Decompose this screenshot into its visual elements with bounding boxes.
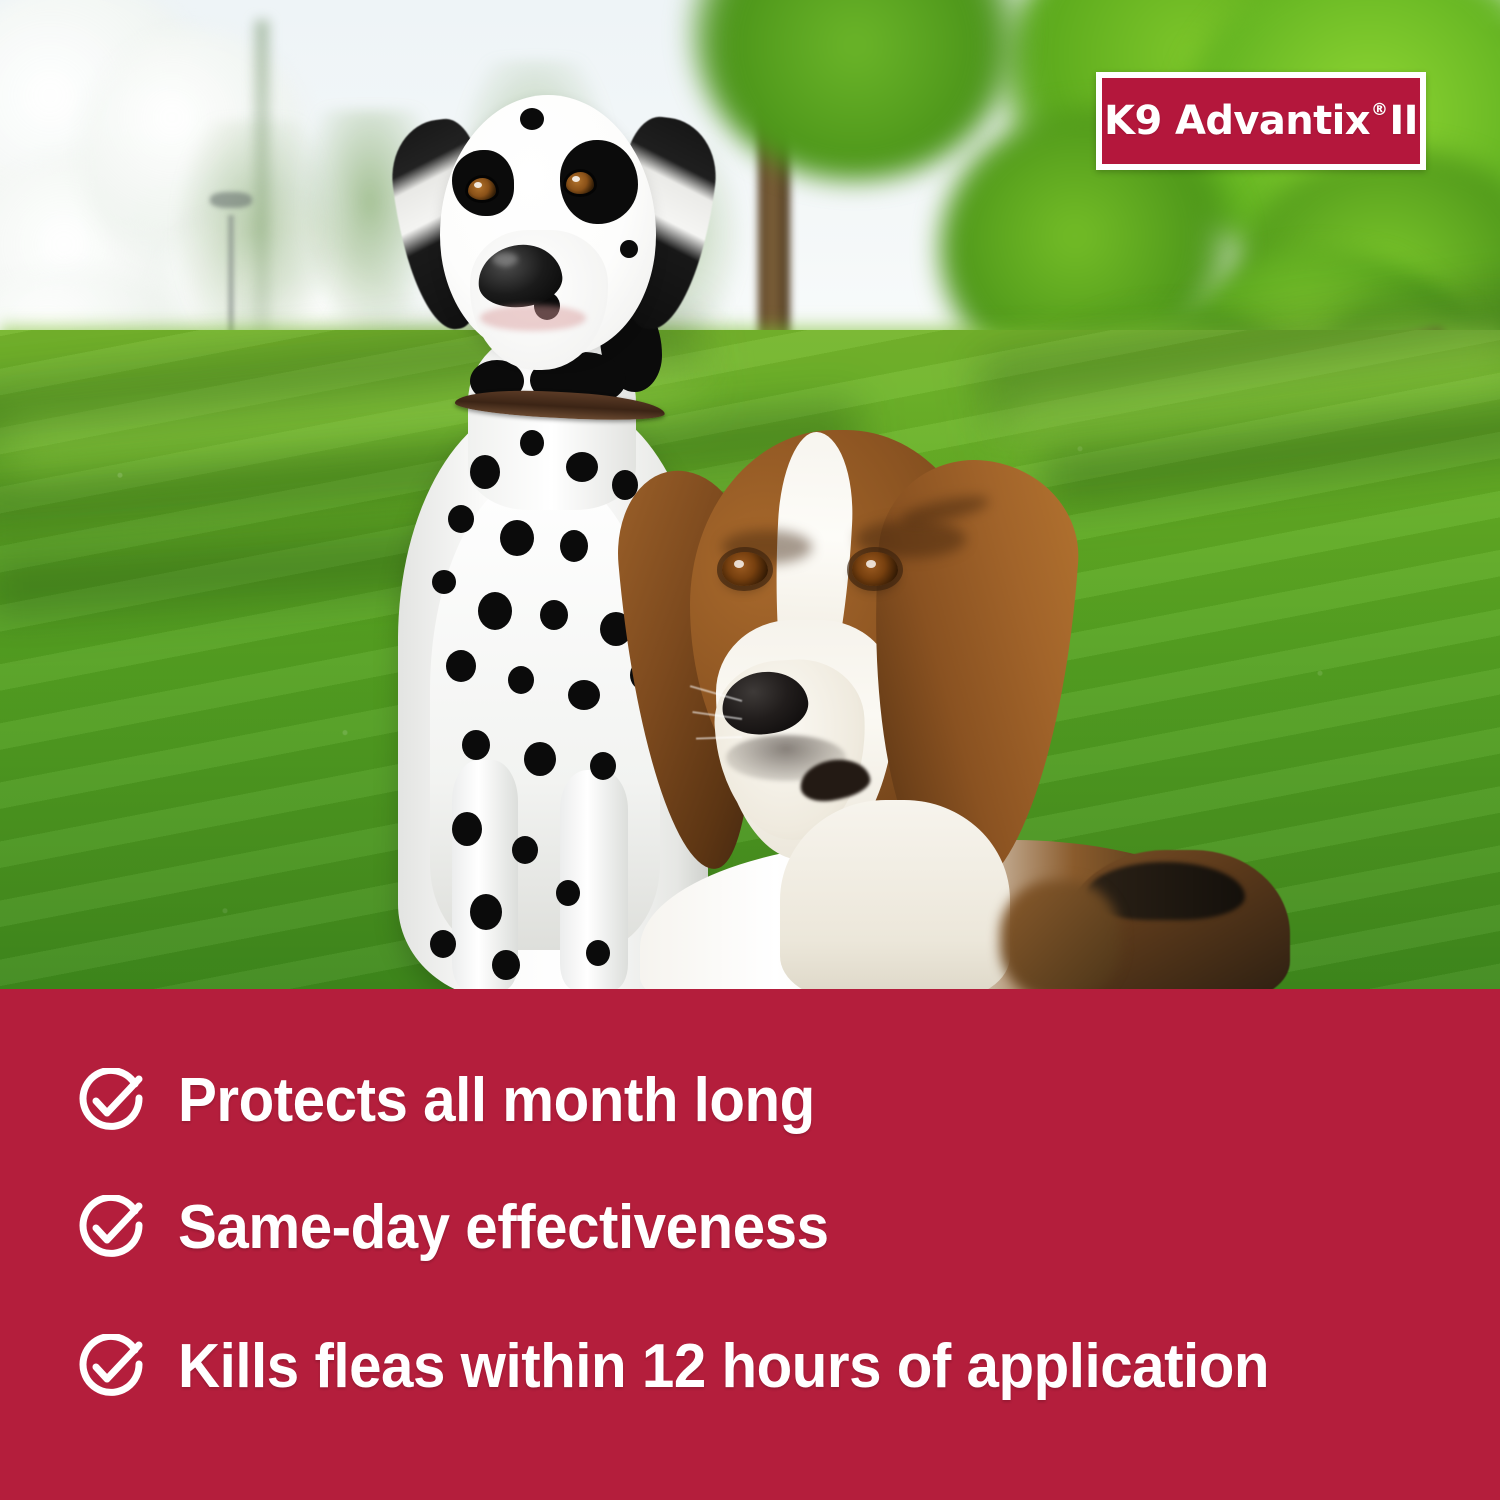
claim-text: Same-day effectiveness xyxy=(178,1197,829,1259)
dalmatian-head-spot-1 xyxy=(520,108,544,130)
basset-chest-shade xyxy=(1000,880,1120,989)
dalmatian-spot xyxy=(432,570,456,594)
dalmatian-spot xyxy=(492,950,520,980)
brand-logo[interactable]: K9 Advantix®II xyxy=(1096,72,1426,170)
claims-list: Protects all month long Same-day effecti… xyxy=(0,989,1500,1500)
basset-eye-highlight-left xyxy=(734,560,744,568)
brand-logo-name: K9 Advantix xyxy=(1104,98,1370,144)
dalmatian-spot xyxy=(512,836,538,864)
dalmatian-spot xyxy=(470,455,500,489)
dalmatian-spot xyxy=(452,812,482,846)
brand-logo-plate: K9 Advantix®II xyxy=(1102,78,1420,164)
dalmatian-spot xyxy=(590,752,616,780)
check-circle-icon xyxy=(78,1334,144,1400)
claim-text: Kills fleas within 12 hours of applicati… xyxy=(178,1336,1269,1398)
check-circle-icon xyxy=(78,1068,144,1134)
dalmatian-spot xyxy=(462,730,490,760)
dalmatian-spot xyxy=(566,452,598,482)
dalmatian-eye-highlight-left xyxy=(474,182,482,188)
list-item: Protects all month long xyxy=(78,1068,855,1134)
dalmatian-spot xyxy=(560,530,588,562)
dalmatian-spot xyxy=(556,880,580,906)
dalmatian-spot xyxy=(448,505,474,533)
lamp-head-icon xyxy=(210,192,252,208)
dalmatian-spot xyxy=(478,592,512,630)
dalmatian-spot xyxy=(430,930,456,958)
dalmatian-spot xyxy=(524,742,556,776)
dalmatian-eye-right xyxy=(566,172,594,194)
dalmatian-nose-highlight xyxy=(492,252,518,266)
basset-chest-white xyxy=(780,800,1010,989)
list-item: Kills fleas within 12 hours of applicati… xyxy=(78,1334,1339,1400)
brand-logo-suffix: II xyxy=(1389,98,1418,144)
brand-logo-text: K9 Advantix®II xyxy=(1104,101,1418,141)
dalmatian-spot xyxy=(586,940,610,966)
claims-banner: Protects all month long Same-day effecti… xyxy=(0,989,1500,1500)
dalmatian-head-spot-3 xyxy=(620,240,638,258)
basset-eye-highlight-right xyxy=(866,560,876,568)
dalmatian-eye-left xyxy=(468,178,496,200)
basset-eye-right xyxy=(852,552,898,586)
registered-trademark-icon: ® xyxy=(1371,100,1387,120)
dalmatian-lip xyxy=(480,305,586,331)
dalmatian-spot xyxy=(508,666,534,694)
dalmatian-spot xyxy=(500,520,534,556)
dalmatian-spot xyxy=(520,430,544,456)
dalmatian-spot xyxy=(446,650,476,682)
claim-text: Protects all month long xyxy=(178,1070,815,1132)
list-item: Same-day effectiveness xyxy=(78,1195,870,1261)
dalmatian-spot xyxy=(540,600,568,630)
dalmatian-spot xyxy=(568,680,600,710)
product-ad-image: K9 Advantix®II Protects all month long xyxy=(0,0,1500,1500)
dalmatian-eye-highlight-right xyxy=(572,176,580,182)
check-circle-icon xyxy=(78,1195,144,1261)
dalmatian-spot xyxy=(470,894,502,930)
basset-eye-left xyxy=(722,552,768,586)
